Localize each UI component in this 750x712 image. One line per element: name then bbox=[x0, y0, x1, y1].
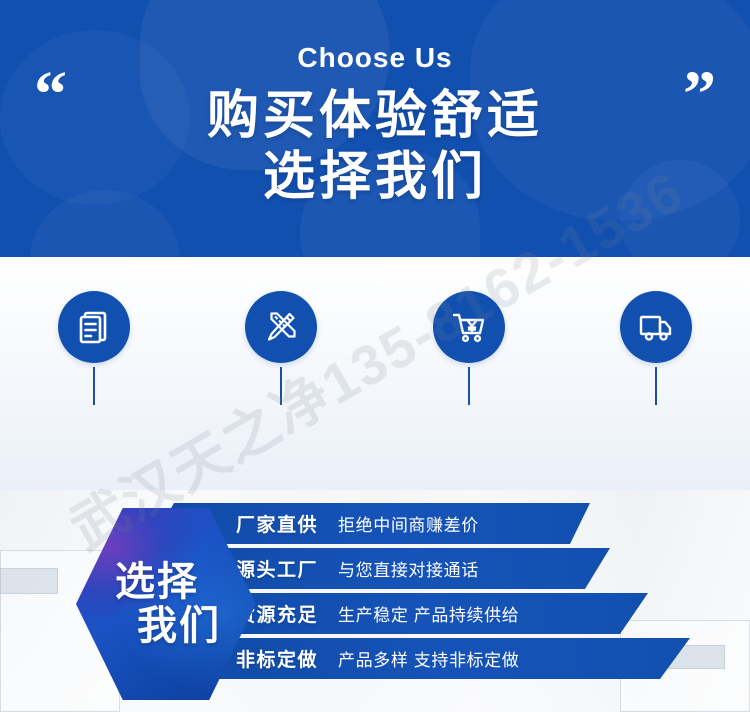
step-item-04[interactable] bbox=[563, 291, 750, 405]
step-icon-circle bbox=[620, 291, 692, 363]
delivery-truck-icon bbox=[636, 307, 676, 347]
advantage-desc: 生产稳定 产品持续供给 bbox=[338, 601, 519, 626]
advantage-desc: 与您直接对接通话 bbox=[338, 556, 479, 581]
hero-title-line1: 购买体验舒适 bbox=[207, 86, 543, 147]
hero-banner: “ ” Choose Us 购买体验舒适 选择我们 bbox=[0, 0, 750, 257]
hero-eyebrow: Choose Us bbox=[297, 44, 452, 72]
step-connector-stem bbox=[468, 367, 470, 405]
step-icon-circle bbox=[433, 291, 505, 363]
document-icon bbox=[74, 307, 114, 347]
ruler-pencil-icon bbox=[261, 307, 301, 347]
step-item-03[interactable] bbox=[375, 291, 563, 405]
cart-yuan-icon bbox=[449, 307, 489, 347]
advantage-title: 非标定做 bbox=[236, 645, 318, 672]
quote-open-icon: “ bbox=[34, 62, 67, 128]
step-connector-stem bbox=[93, 367, 95, 405]
step-icon-circle bbox=[58, 291, 130, 363]
step-icon-circle bbox=[245, 291, 317, 363]
advantage-desc: 拒绝中间商赚差价 bbox=[338, 511, 479, 536]
advantage-title: 厂家直供 bbox=[236, 510, 318, 537]
hexagon-line1: 选择 bbox=[115, 560, 199, 604]
hero-title-line2: 选择我们 bbox=[263, 147, 487, 208]
quote-close-icon: ” bbox=[683, 62, 716, 128]
step-item-01[interactable] bbox=[0, 291, 188, 405]
step-connector-stem bbox=[655, 367, 657, 405]
process-steps-section: 01 提供参数 02 沟通设计 03 下单支付 04 送货上门 bbox=[0, 257, 750, 490]
hexagon-line2: 我们 bbox=[137, 604, 221, 648]
step-item-02[interactable] bbox=[188, 291, 376, 405]
step-icons-row bbox=[0, 291, 750, 405]
step-connector-stem bbox=[280, 367, 282, 405]
advantage-desc: 产品多样 支持非标定做 bbox=[338, 646, 519, 671]
promo-page: “ ” Choose Us 购买体验舒适 选择我们 bbox=[0, 0, 750, 712]
advantage-title: 源头工厂 bbox=[236, 555, 318, 582]
